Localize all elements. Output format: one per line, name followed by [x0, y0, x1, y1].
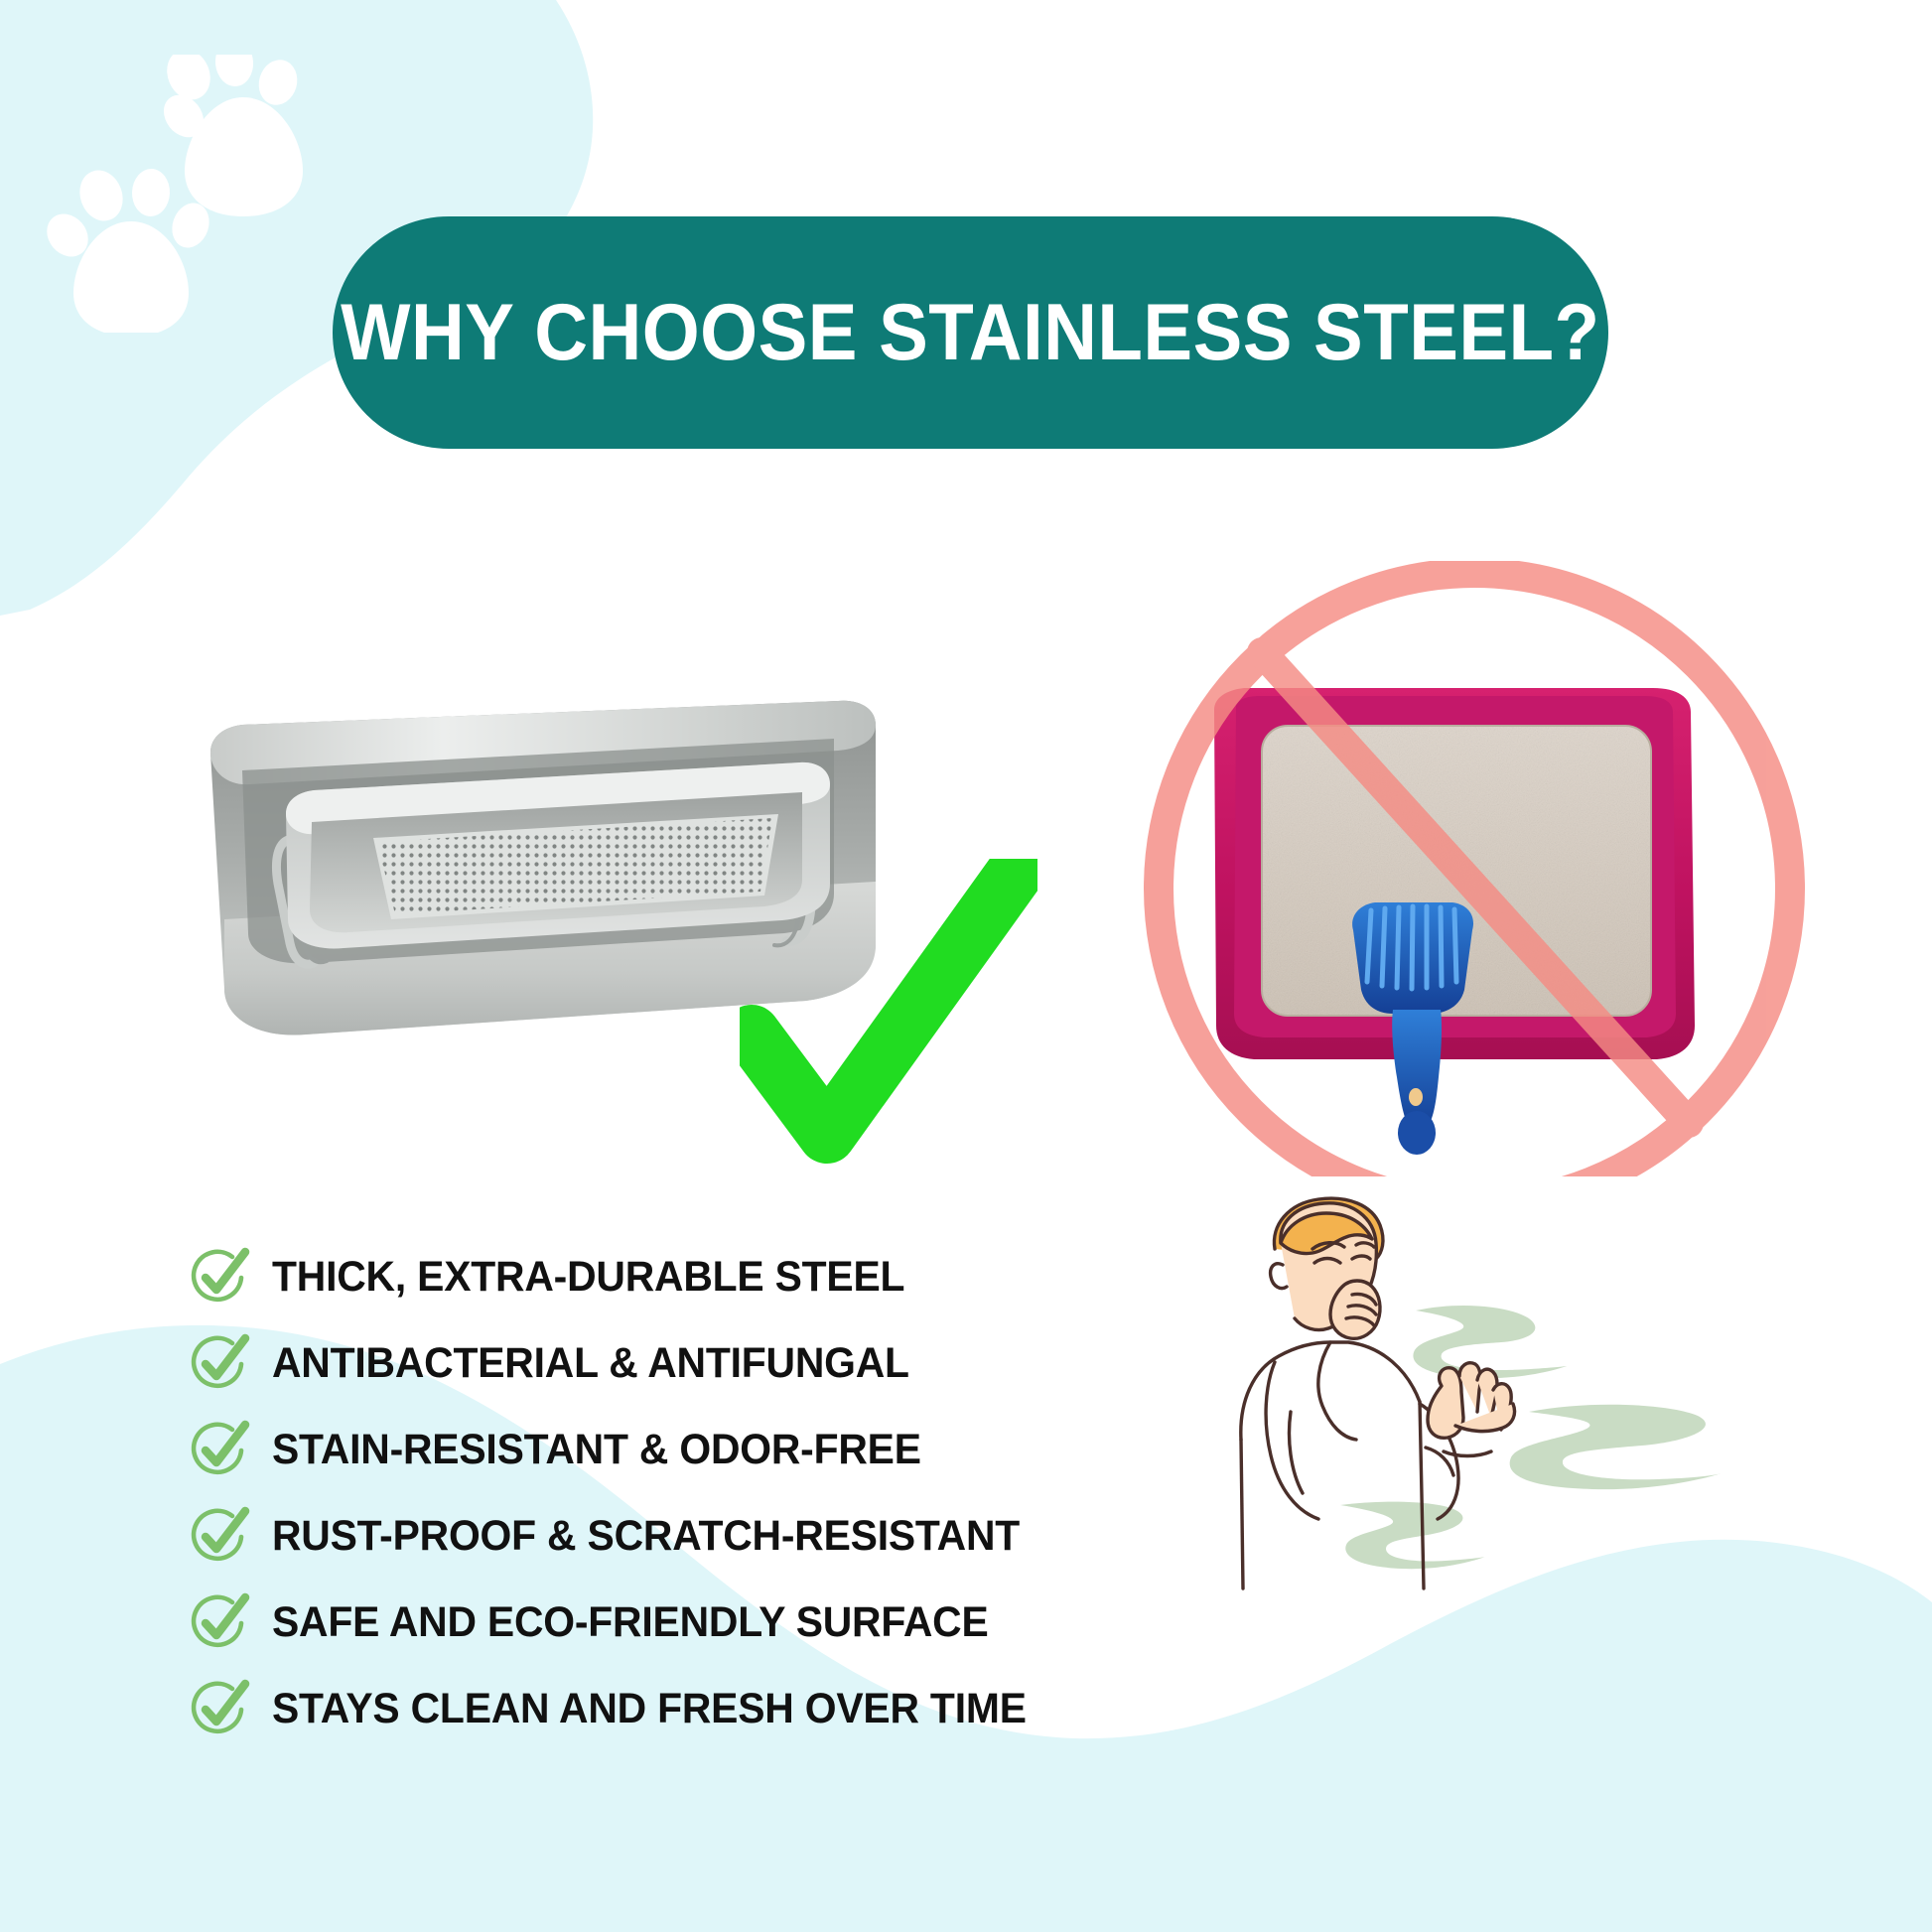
benefit-label: STAIN-RESISTANT & ODOR-FREE	[272, 1426, 921, 1474]
list-item: ANTIBACTERIAL & ANTIFUNGAL	[189, 1320, 1241, 1407]
benefit-label: SAFE AND ECO-FRIENDLY SURFACE	[272, 1598, 989, 1647]
benefit-label: RUST-PROOF & SCRATCH-RESISTANT	[272, 1512, 1020, 1561]
green-check-circle-icon	[189, 1506, 250, 1568]
green-check-circle-icon	[189, 1247, 250, 1309]
pawprint-decoration	[40, 55, 318, 333]
list-item: SAFE AND ECO-FRIENDLY SURFACE	[189, 1580, 1241, 1666]
benefits-list: THICK, EXTRA-DURABLE STEEL ANTIBACTERIAL…	[189, 1234, 1241, 1752]
list-item: STAIN-RESISTANT & ODOR-FREE	[189, 1407, 1241, 1493]
benefit-label: STAYS CLEAN AND FRESH OVER TIME	[272, 1685, 1027, 1733]
green-check-circle-icon	[189, 1420, 250, 1481]
odor-wave-icon	[1340, 1306, 1722, 1569]
list-item: THICK, EXTRA-DURABLE STEEL	[189, 1234, 1241, 1320]
man-covering-nose-illustration	[1231, 1191, 1727, 1608]
green-checkmark-icon	[740, 859, 1037, 1186]
pawprint-icon	[40, 164, 215, 333]
plastic-litter-box-image	[1137, 561, 1812, 1176]
green-check-circle-icon	[189, 1592, 250, 1654]
infographic-canvas: WHY CHOOSE STAINLESS STEEL?	[0, 0, 1932, 1932]
page-title-pill: WHY CHOOSE STAINLESS STEEL?	[333, 216, 1608, 449]
green-check-circle-icon	[189, 1333, 250, 1395]
benefit-label: ANTIBACTERIAL & ANTIFUNGAL	[272, 1339, 909, 1388]
list-item: RUST-PROOF & SCRATCH-RESISTANT	[189, 1493, 1241, 1580]
pawprint-icon	[156, 55, 303, 216]
benefit-label: THICK, EXTRA-DURABLE STEEL	[272, 1253, 904, 1302]
green-check-circle-icon	[189, 1679, 250, 1740]
list-item: STAYS CLEAN AND FRESH OVER TIME	[189, 1666, 1241, 1752]
page-title: WHY CHOOSE STAINLESS STEEL?	[341, 287, 1599, 379]
